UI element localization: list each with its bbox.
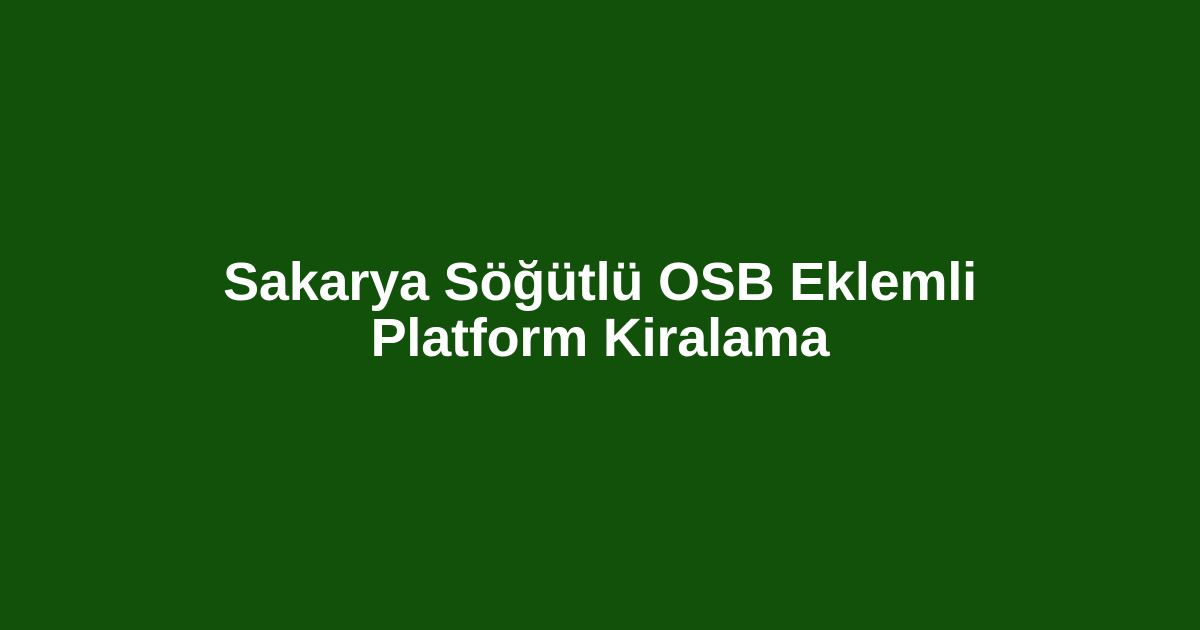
headline-block: Sakarya Söğütlü OSB Eklemli Platform Kir… [200,254,1000,366]
og-preview-card: Sakarya Söğütlü OSB Eklemli Platform Kir… [0,0,1200,630]
page-title: Sakarya Söğütlü OSB Eklemli Platform Kir… [210,254,990,366]
